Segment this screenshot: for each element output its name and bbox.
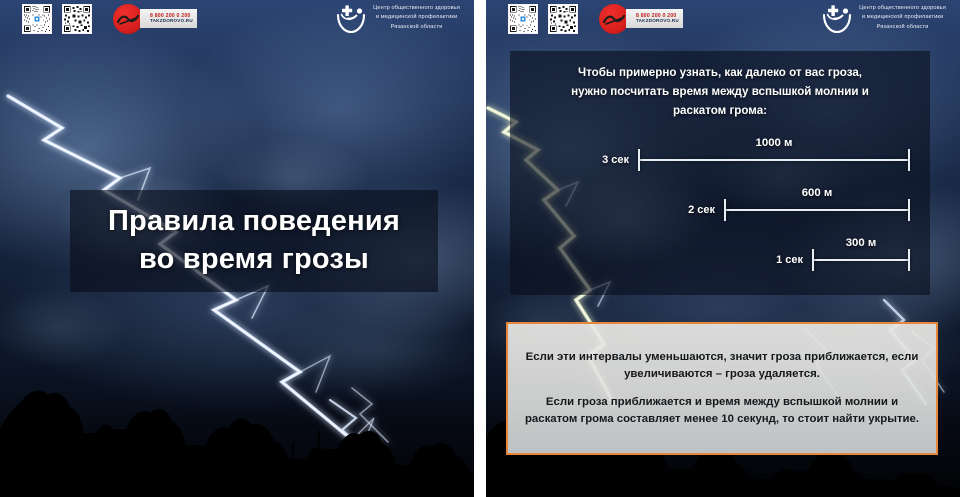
scale-bar-cap-left xyxy=(812,249,814,271)
scale-bar-cap-right xyxy=(908,249,910,271)
scale-seconds-label: 2 сек xyxy=(688,204,715,216)
takzdorovo-logo-icon xyxy=(599,4,629,34)
scale-bar-cap-left xyxy=(638,149,640,171)
organization-block: Центр общественного здоровья и медицинск… xyxy=(822,2,946,34)
scale-seconds-label: 1 сек xyxy=(776,254,803,266)
qr-code-2[interactable] xyxy=(548,4,578,34)
scale-distance-label: 300 м xyxy=(812,237,910,249)
info-lead-line-2: нужно посчитать время между вспышкой мол… xyxy=(526,83,914,102)
organization-line-2: и медицинской профилактики xyxy=(373,13,460,22)
organization-name: Центр общественного здоровья и медицинск… xyxy=(859,4,946,32)
scale-row-1sec: 1 сек 300 м xyxy=(776,239,910,281)
health-center-logo-icon xyxy=(822,2,852,34)
qr-code-1[interactable] xyxy=(508,4,538,34)
organization-name: Центр общественного здоровья и медицинск… xyxy=(373,4,460,32)
scale-bar-cap-right xyxy=(908,149,910,171)
qr-code-1[interactable] xyxy=(22,4,52,34)
page-title-line-2: во время грозы xyxy=(139,241,369,279)
brand-bar-left: 8 800 200 0 200 TAKZDOROVO.RU xyxy=(0,0,474,38)
scale-distance-label: 600 м xyxy=(724,187,910,199)
organization-line-1: Центр общественного здоровья xyxy=(859,4,946,13)
info-lead-text: Чтобы примерно узнать, как далеко от вас… xyxy=(526,64,914,120)
hotline-plate[interactable]: 8 800 200 0 200 TAKZDOROVO.RU xyxy=(140,9,197,28)
distance-scale-diagram: 3 сек 1000 м 2 сек 600 м xyxy=(526,135,914,285)
organization-line-1: Центр общественного здоровья xyxy=(373,4,460,13)
scale-bar-line xyxy=(724,209,910,211)
info-lead-line-1: Чтобы примерно узнать, как далеко от вас… xyxy=(526,64,914,83)
organization-block: Центр общественного здоровья и медицинск… xyxy=(336,2,460,34)
advice-paragraph-2: Если гроза приближается и время между вс… xyxy=(522,394,922,428)
scale-seconds-label: 3 сек xyxy=(602,154,629,166)
scale-bar-300m: 300 м xyxy=(812,249,910,271)
info-panel: Чтобы примерно узнать, как далеко от вас… xyxy=(510,51,930,295)
hotline-site: TAKZDOROVO.RU xyxy=(636,19,679,24)
scale-distance-label: 1000 м xyxy=(638,137,910,149)
scale-bar-cap-left xyxy=(724,199,726,221)
organization-line-3: Рязанской области xyxy=(373,23,460,32)
organization-line-2: и медицинской профилактики xyxy=(859,13,946,22)
qr-code-2[interactable] xyxy=(62,4,92,34)
scale-row-2sec: 2 сек 600 м xyxy=(688,189,910,231)
hotline-plate[interactable]: 8 800 200 0 200 TAKZDOROVO.RU xyxy=(626,9,683,28)
page-title-line-1: Правила поведения xyxy=(108,203,400,241)
scale-bar-1000m: 1000 м xyxy=(638,149,910,171)
takzdorovo-logo-icon xyxy=(113,4,143,34)
slide-title-plate: Правила поведения во время грозы xyxy=(70,190,438,292)
advice-callout-box: Если эти интервалы уменьшаются, значит г… xyxy=(506,322,938,455)
slide-distance-rule: 8 800 200 0 200 TAKZDOROVO.RU xyxy=(486,0,960,497)
info-lead-line-3: раскатом грома: xyxy=(526,102,914,121)
scale-row-3sec: 3 сек 1000 м xyxy=(602,139,910,181)
health-center-logo-icon xyxy=(336,2,366,34)
advice-paragraph-1: Если эти интервалы уменьшаются, значит г… xyxy=(522,349,922,383)
organization-line-3: Рязанской области xyxy=(859,23,946,32)
hotline-site: TAKZDOROVO.RU xyxy=(150,19,193,24)
brand-bar-right: 8 800 200 0 200 TAKZDOROVO.RU xyxy=(486,0,960,38)
scale-bar-600m: 600 м xyxy=(724,199,910,221)
slide-deck: 8 800 200 0 200 TAKZDOROVO.RU xyxy=(0,0,960,497)
slide-title: 8 800 200 0 200 TAKZDOROVO.RU xyxy=(0,0,474,497)
scale-bar-line xyxy=(812,259,910,261)
scale-bar-line xyxy=(638,159,910,161)
scale-bar-cap-right xyxy=(908,199,910,221)
